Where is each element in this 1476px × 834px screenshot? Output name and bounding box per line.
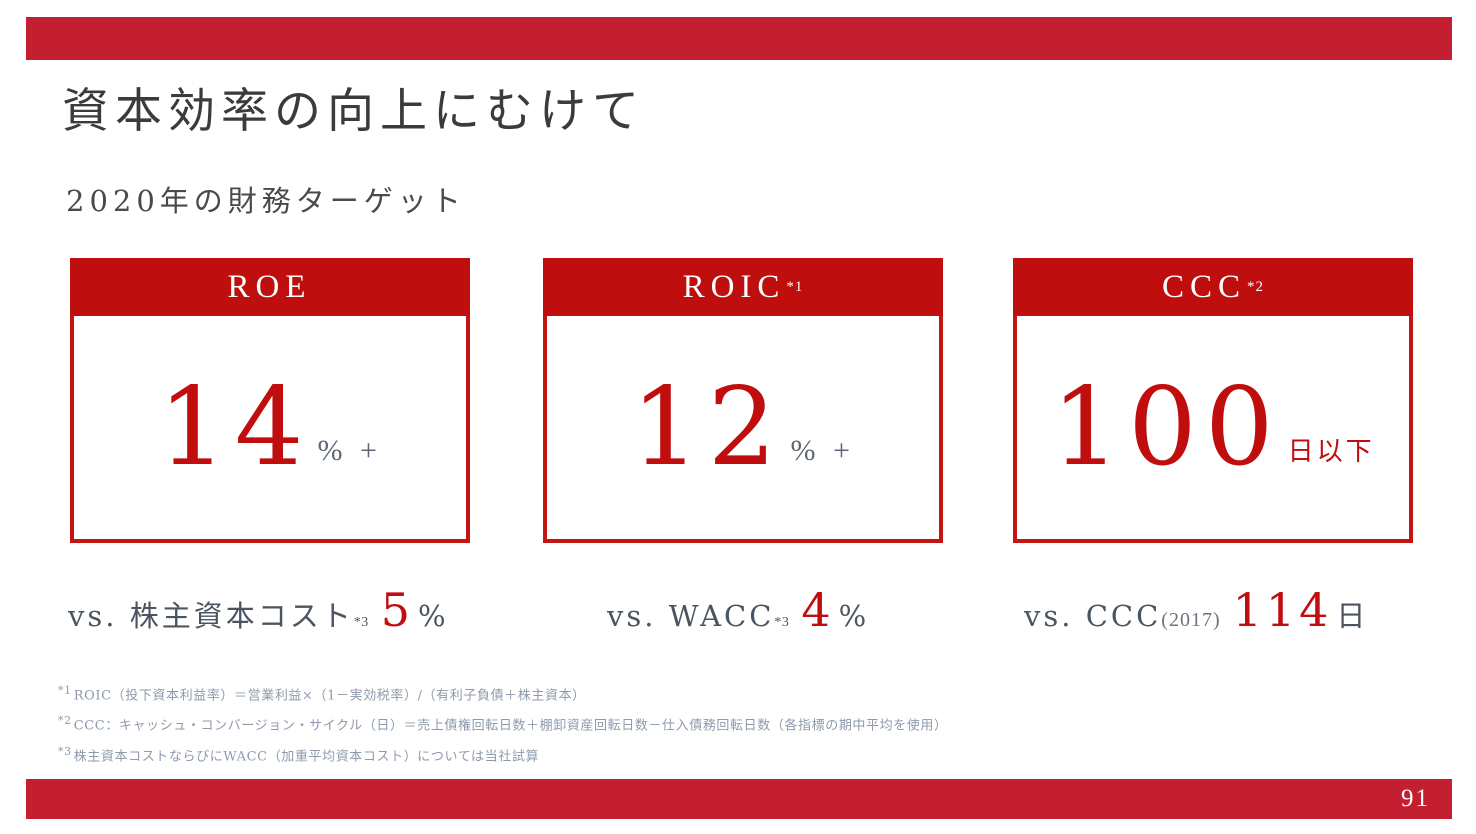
footnote-item: *3株主資本コストならびにWACC（加重平均資本コスト）については当社試算 (58, 739, 1398, 769)
comparison-unit: % (839, 599, 869, 633)
metric-card-header: ROIC*1 (543, 258, 943, 316)
comparison-unit: 日 (1336, 593, 1367, 635)
comparison-label: vs. 株主資本コスト (68, 593, 354, 635)
metric-card-footnote-marker: *2 (1247, 279, 1264, 296)
metric-value-group: 12 % + (631, 374, 855, 482)
metric-value: 12 (631, 374, 784, 482)
metric-card-header: CCC*2 (1013, 258, 1413, 316)
comparison-roic: vs. WACC*3 4 % (607, 583, 868, 637)
metric-unit: 日以下 (1288, 431, 1375, 468)
comparison-footnote-marker: *3 (774, 615, 789, 631)
metric-card-group: ROE 14 % + ROIC*1 12 % + CCC*2 100 日以下 (0, 258, 1476, 568)
footnote-item: *1ROIC（投下資本利益率）＝営業利益×（1－実効税率）/（有利子負債＋株主資… (58, 678, 1398, 708)
metric-value-group: 14 % + (158, 374, 382, 482)
metric-card-label: CCC (1162, 269, 1246, 306)
metric-card-body: 100 日以下 (1013, 316, 1413, 543)
metric-value: 100 (1051, 374, 1281, 482)
comparison-ccc: vs. CCC(2017) 114 日 (1024, 583, 1367, 637)
page-title: 資本効率の向上にむけて (62, 72, 645, 141)
page-subtitle: 2020年の財務ターゲット (66, 178, 466, 220)
footnote-text: ROIC（投下資本利益率）＝営業利益×（1－実効税率）/（有利子負債＋株主資本） (74, 688, 586, 703)
comparison-label: vs. WACC (607, 599, 774, 633)
comparison-roe: vs. 株主資本コスト*3 5 % (68, 583, 448, 637)
comparison-unit: % (418, 599, 448, 633)
metric-value: 14 (158, 374, 311, 482)
footnote-marker: *2 (58, 714, 72, 727)
metric-card-label: ROIC (683, 269, 786, 306)
metric-value-group: 100 日以下 (1051, 374, 1374, 482)
metric-card-footnote-marker: *1 (786, 279, 803, 296)
metric-unit: % + (318, 434, 382, 468)
comparison-value: 114 (1233, 583, 1333, 637)
top-accent-bar (26, 17, 1452, 60)
metric-card-ccc: CCC*2 100 日以下 (1013, 258, 1413, 543)
comparison-value: 5 (381, 583, 414, 637)
footnote-text: 株主資本コストならびにWACC（加重平均資本コスト）については当社試算 (74, 749, 539, 764)
footnote-marker: *1 (58, 684, 72, 697)
footnote-item: *2CCC：キャッシュ・コンバージョン・サイクル（日）＝売上債権回転日数＋棚卸資… (58, 708, 1398, 738)
metric-card-roe: ROE 14 % + (70, 258, 470, 543)
metric-card-roic: ROIC*1 12 % + (543, 258, 943, 543)
comparison-value: 4 (801, 583, 834, 637)
footnote-text: CCC：キャッシュ・コンバージョン・サイクル（日）＝売上債権回転日数＋棚卸資産回… (74, 719, 948, 734)
page-number: 91 (1401, 785, 1430, 813)
metric-card-header: ROE (70, 258, 470, 316)
metric-card-body: 14 % + (70, 316, 470, 543)
comparison-year: (2017) (1161, 609, 1220, 632)
footnote-group: *1ROIC（投下資本利益率）＝営業利益×（1－実効税率）/（有利子負債＋株主資… (58, 678, 1398, 769)
comparison-label: vs. CCC (1024, 599, 1161, 633)
bottom-accent-bar: 91 (26, 779, 1452, 819)
metric-card-label: ROE (228, 269, 312, 306)
metric-unit: % + (791, 434, 855, 468)
footnote-marker: *3 (58, 745, 72, 758)
comparison-footnote-marker: *3 (354, 615, 369, 631)
metric-card-body: 12 % + (543, 316, 943, 543)
